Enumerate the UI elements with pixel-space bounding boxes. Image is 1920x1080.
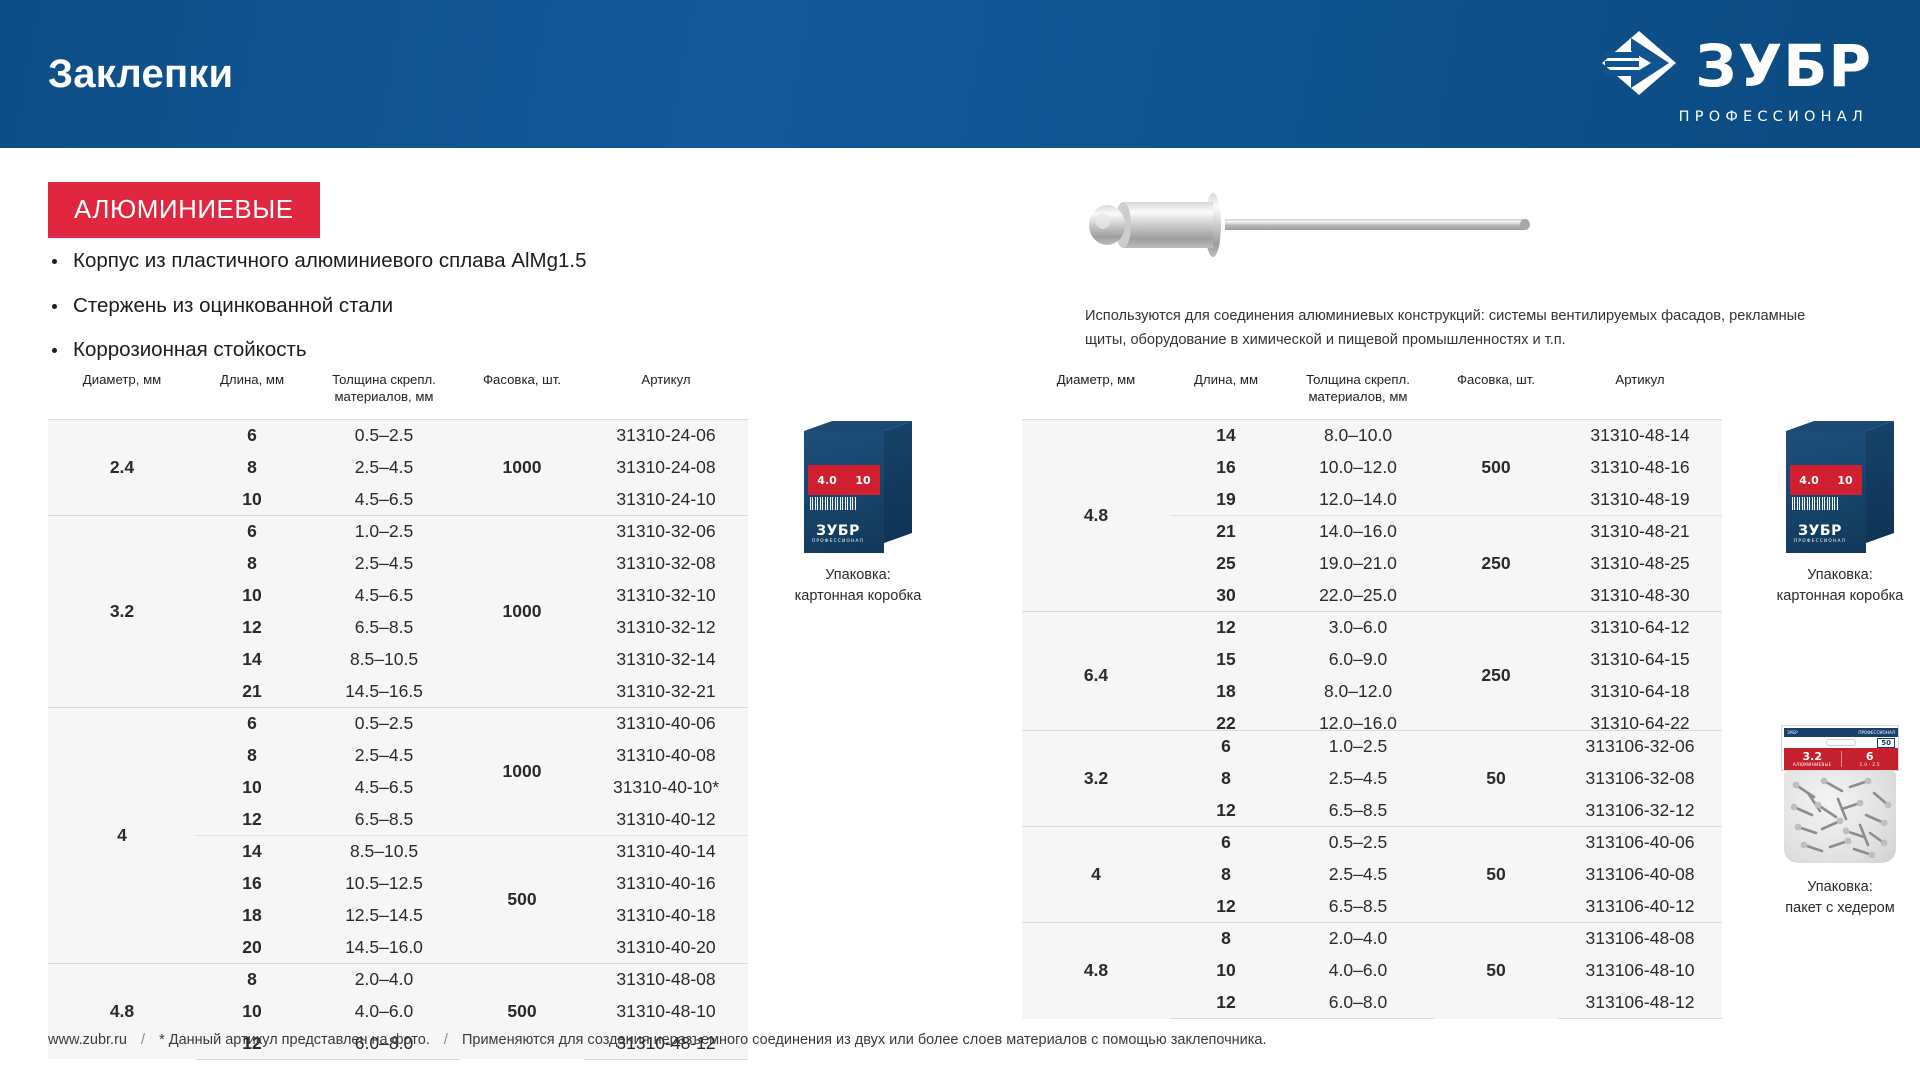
cell-length: 10 <box>196 579 308 611</box>
bag-label-diameter: 3.2 АЛЮМИНИЕВЫЕ <box>1784 751 1841 767</box>
cell-thickness: 6.0–9.0 <box>1282 643 1434 675</box>
cell-length: 10 <box>196 771 308 803</box>
cell-length: 8 <box>1170 923 1282 955</box>
box-label-length: 10 <box>1837 475 1852 486</box>
box-label-diameter: 4.0 <box>817 475 837 486</box>
table-body: 4.8 14 8.0–10.0 500 31310-48-14 16 10.0–… <box>1022 419 1722 739</box>
box-label-diameter: 4.0 <box>1799 475 1819 486</box>
cell-thickness: 10.5–12.5 <box>308 867 460 899</box>
cell-length: 20 <box>196 931 308 963</box>
cell-thickness: 12.0–14.0 <box>1282 483 1434 515</box>
brand-logo: ЗУБР ПРОФЕССИОНАЛ <box>1601 30 1872 125</box>
feature-text: Коррозионная стойкость <box>73 337 307 363</box>
package-illustration-bag: ЗУБР ПРОФЕССИОНАЛ 50 3.2 АЛЮМИНИЕВЫЕ 6 1… <box>1750 725 1920 919</box>
zubr-arrow-icon <box>1601 30 1677 101</box>
brand-tagline: ПРОФЕССИОНАЛ <box>1679 109 1868 125</box>
cell-packaging: 250 <box>1434 611 1558 739</box>
category-badge: АЛЮМИНИЕВЫЕ <box>48 182 320 238</box>
cell-packaging: 500 <box>1434 419 1558 515</box>
bag-header-card: ЗУБР ПРОФЕССИОНАЛ 50 3.2 АЛЮМИНИЕВЫЕ 6 1… <box>1781 725 1899 771</box>
bag-contents <box>1784 771 1896 863</box>
cardboard-box-icon: 4.0 10 ЗУБР ПРОФЕССИОНАЛ <box>804 415 912 553</box>
cell-thickness: 12.5–14.5 <box>308 899 460 931</box>
cell-thickness: 8.0–12.0 <box>1282 675 1434 707</box>
box-brand: ЗУБР ПРОФЕССИОНАЛ <box>812 523 864 544</box>
cell-article: 31310-48-25 <box>1558 547 1722 579</box>
cell-article: 31310-40-10* <box>584 771 748 803</box>
cell-thickness: 4.5–6.5 <box>308 483 460 515</box>
box-brand: ЗУБР ПРОФЕССИОНАЛ <box>1794 523 1846 544</box>
cell-thickness: 10.0–12.0 <box>1282 451 1434 483</box>
cell-article: 31310-40-08 <box>584 739 748 771</box>
cell-length: 8 <box>196 451 308 483</box>
cell-diameter: 2.4 <box>48 419 196 515</box>
package-illustration-box-right: 4.0 10 ЗУБР ПРОФЕССИОНАЛ Упаковка: карто… <box>1750 415 1920 607</box>
cell-article: 31310-48-08 <box>584 963 748 995</box>
cell-thickness: 14.0–16.0 <box>1282 515 1434 547</box>
cell-thickness: 6.5–8.5 <box>308 803 460 835</box>
cell-article: 31310-48-14 <box>1558 419 1722 451</box>
cell-thickness: 1.0–2.5 <box>308 515 460 547</box>
table-row: 4.8 8 2.0–4.0 500 31310-48-08 <box>48 963 748 995</box>
feature-item: Корпус из пластичного алюминиевого сплав… <box>52 248 672 274</box>
cell-article: 31310-40-16 <box>584 867 748 899</box>
cell-length: 18 <box>1170 675 1282 707</box>
cell-length: 6 <box>196 515 308 547</box>
cell-length: 12 <box>1170 611 1282 643</box>
cell-length: 21 <box>196 675 308 707</box>
cell-length: 15 <box>1170 643 1282 675</box>
col-header-packaging: Фасовка, шт. <box>1434 372 1558 419</box>
cell-thickness: 2.5–4.5 <box>308 451 460 483</box>
cell-article: 31310-24-06 <box>584 419 748 451</box>
cell-article: 313106-32-06 <box>1558 731 1722 763</box>
col-header-length: Длина, мм <box>196 372 308 419</box>
cell-thickness: 4.5–6.5 <box>308 771 460 803</box>
package-caption: Упаковка: картонная коробка <box>1750 565 1920 607</box>
feature-text: Корпус из пластичного алюминиевого сплав… <box>73 248 587 274</box>
cell-length: 12 <box>1170 795 1282 827</box>
cell-article: 313106-48-12 <box>1558 987 1722 1019</box>
footer-website[interactable]: www.zubr.ru <box>48 1032 127 1048</box>
box-label: 4.0 10 <box>1790 465 1862 495</box>
cell-thickness: 4.5–6.5 <box>308 579 460 611</box>
cell-diameter: 4 <box>1022 827 1170 923</box>
col-header-length: Длина, мм <box>1170 372 1282 419</box>
footer-separator: / <box>434 1032 458 1048</box>
cell-length: 6 <box>1170 827 1282 859</box>
cell-thickness: 2.5–4.5 <box>308 547 460 579</box>
cell-length: 8 <box>1170 763 1282 795</box>
cell-article: 31310-40-18 <box>584 899 748 931</box>
cell-article: 31310-48-21 <box>1558 515 1722 547</box>
page-header: Заклепки ЗУБР ПРОФЕССИОНАЛ <box>0 0 1920 148</box>
cell-article: 313106-48-08 <box>1558 923 1722 955</box>
bag-quantity-badge: 50 <box>1877 738 1895 748</box>
cell-thickness: 2.0–4.0 <box>1282 923 1434 955</box>
bag-brand-strip: ЗУБР ПРОФЕССИОНАЛ <box>1784 728 1898 737</box>
feature-item: Коррозионная стойкость <box>52 337 672 363</box>
footer-note-usage: Применяются для создания неразъемного со… <box>462 1032 1267 1048</box>
product-datasheet-page: Заклепки ЗУБР ПРОФЕССИОНАЛ АЛЮМИНИЕВЫЕ <box>0 0 1920 1080</box>
cell-thickness: 8.5–10.5 <box>308 643 460 675</box>
box-label: 4.0 10 <box>808 465 880 495</box>
cell-length: 25 <box>1170 547 1282 579</box>
cell-thickness: 8.5–10.5 <box>308 835 460 867</box>
bullet-dot-icon <box>52 304 57 309</box>
cell-length: 14 <box>196 835 308 867</box>
cell-thickness: 2.5–4.5 <box>308 739 460 771</box>
cell-article: 31310-48-16 <box>1558 451 1722 483</box>
table-body: 3.2 6 1.0–2.5 50 313106-32-06 8 2.5–4.5 … <box>1022 731 1722 1019</box>
cell-length: 12 <box>196 611 308 643</box>
cell-thickness: 22.0–25.0 <box>1282 579 1434 611</box>
usage-description: Используются для соединения алюминиевых … <box>1085 305 1830 352</box>
cell-length: 10 <box>196 483 308 515</box>
cell-packaging: 1000 <box>460 515 584 707</box>
cell-length: 12 <box>1170 987 1282 1019</box>
cell-thickness: 2.5–4.5 <box>1282 859 1434 891</box>
cell-thickness: 6.0–8.0 <box>1282 987 1434 1019</box>
cell-thickness: 3.0–6.0 <box>1282 611 1434 643</box>
cell-length: 8 <box>196 739 308 771</box>
box-label-length: 10 <box>855 475 870 486</box>
package-caption: Упаковка: картонная коробка <box>768 565 948 607</box>
cell-article: 31310-32-14 <box>584 643 748 675</box>
cell-thickness: 14.5–16.0 <box>308 931 460 963</box>
cell-thickness: 14.5–16.5 <box>308 675 460 707</box>
specs-table-right-upper: Диаметр, мм Длина, мм Толщина скрепл.мат… <box>1022 372 1722 740</box>
cell-length: 12 <box>1170 891 1282 923</box>
cell-thickness: 0.5–2.5 <box>308 419 460 451</box>
cell-thickness: 4.0–6.0 <box>308 995 460 1027</box>
cell-length: 8 <box>196 963 308 995</box>
specs-table-left: Диаметр, мм Длина, мм Толщина скрепл.мат… <box>48 372 748 1060</box>
cell-thickness: 6.5–8.5 <box>308 611 460 643</box>
bag-label: 3.2 АЛЮМИНИЕВЫЕ 6 1.0 - 2.5 <box>1784 748 1898 770</box>
col-header-packaging: Фасовка, шт. <box>460 372 584 419</box>
col-header-diameter: Диаметр, мм <box>1022 372 1170 419</box>
cell-article: 31310-24-08 <box>584 451 748 483</box>
feature-list: Корпус из пластичного алюминиевого сплав… <box>52 248 672 382</box>
cell-packaging: 1000 <box>460 707 584 835</box>
bullet-dot-icon <box>52 259 57 264</box>
barcode-icon <box>810 497 856 510</box>
cell-thickness: 2.0–4.0 <box>308 963 460 995</box>
cell-packaging: 1000 <box>460 419 584 515</box>
cell-thickness: 2.5–4.5 <box>1282 763 1434 795</box>
cell-length: 6 <box>196 419 308 451</box>
table-row: 4 6 0.5–2.5 1000 31310-40-06 <box>48 707 748 739</box>
cell-diameter: 4.8 <box>1022 923 1170 1019</box>
cell-diameter: 3.2 <box>1022 731 1170 827</box>
package-caption: Упаковка: пакет с хедером <box>1750 877 1920 919</box>
cell-thickness: 0.5–2.5 <box>308 707 460 739</box>
cell-article: 313106-48-10 <box>1558 955 1722 987</box>
cell-length: 14 <box>1170 419 1282 451</box>
cell-article: 31310-40-12 <box>584 803 748 835</box>
table-header-row: Диаметр, мм Длина, мм Толщина скрепл.мат… <box>1022 372 1722 419</box>
feature-item: Стержень из оцинкованной стали <box>52 293 672 319</box>
col-header-article: Артикул <box>584 372 748 419</box>
cell-article: 31310-32-06 <box>584 515 748 547</box>
euro-hole-icon <box>1826 739 1856 746</box>
col-header-thickness: Толщина скрепл.материалов, мм <box>1282 372 1434 419</box>
table-row: 3.2 6 1.0–2.5 50 313106-32-06 <box>1022 731 1722 763</box>
cell-article: 313106-40-12 <box>1558 891 1722 923</box>
bag-label-length: 6 1.0 - 2.5 <box>1842 751 1899 767</box>
col-header-thickness: Толщина скрепл.материалов, мм <box>308 372 460 419</box>
table-row: 4.8 14 8.0–10.0 500 31310-48-14 <box>1022 419 1722 451</box>
cell-length: 30 <box>1170 579 1282 611</box>
cell-article: 31310-32-12 <box>584 611 748 643</box>
cell-length: 6 <box>196 707 308 739</box>
cell-article: 31310-64-12 <box>1558 611 1722 643</box>
cell-length: 19 <box>1170 483 1282 515</box>
cell-length: 10 <box>196 995 308 1027</box>
cell-article: 31310-40-06 <box>584 707 748 739</box>
cell-length: 12 <box>196 803 308 835</box>
cell-thickness: 0.5–2.5 <box>1282 827 1434 859</box>
cell-length: 6 <box>1170 731 1282 763</box>
cell-packaging: 500 <box>460 835 584 963</box>
cell-length: 21 <box>1170 515 1282 547</box>
page-footer: www.zubr.ru / * Данный артикул представл… <box>48 1032 1267 1048</box>
cell-length: 16 <box>1170 451 1282 483</box>
col-header-article: Артикул <box>1558 372 1722 419</box>
table-row: 2.4 6 0.5–2.5 1000 31310-24-06 <box>48 419 748 451</box>
cell-article: 31310-32-10 <box>584 579 748 611</box>
barcode-icon <box>1792 497 1838 510</box>
cell-thickness: 4.0–6.0 <box>1282 955 1434 987</box>
table-row: 4 6 0.5–2.5 50 313106-40-06 <box>1022 827 1722 859</box>
specs-table-right-lower: 3.2 6 1.0–2.5 50 313106-32-06 8 2.5–4.5 … <box>1022 730 1722 1019</box>
cell-thickness: 8.0–10.0 <box>1282 419 1434 451</box>
table-body: 2.4 6 0.5–2.5 1000 31310-24-06 8 2.5–4.5… <box>48 419 748 1059</box>
cell-packaging: 50 <box>1434 827 1558 923</box>
page-title: Заклепки <box>48 52 233 97</box>
cell-length: 8 <box>1170 859 1282 891</box>
cell-packaging: 50 <box>1434 731 1558 827</box>
footer-separator: / <box>131 1032 155 1048</box>
cell-length: 16 <box>196 867 308 899</box>
cell-diameter: 3.2 <box>48 515 196 707</box>
cell-article: 313106-32-08 <box>1558 763 1722 795</box>
cell-thickness: 1.0–2.5 <box>1282 731 1434 763</box>
cell-length: 14 <box>196 643 308 675</box>
cell-length: 8 <box>196 547 308 579</box>
cell-article: 313106-40-08 <box>1558 859 1722 891</box>
cell-length: 10 <box>1170 955 1282 987</box>
rivet-product-image <box>1075 190 1595 265</box>
table-row: 3.2 6 1.0–2.5 1000 31310-32-06 <box>48 515 748 547</box>
cell-article: 31310-64-15 <box>1558 643 1722 675</box>
footer-note-photo: * Данный артикул представлен на фото. <box>159 1032 430 1048</box>
cell-packaging: 50 <box>1434 923 1558 1019</box>
cell-article: 31310-48-30 <box>1558 579 1722 611</box>
cell-article: 31310-40-20 <box>584 931 748 963</box>
cell-article: 313106-40-06 <box>1558 827 1722 859</box>
cell-diameter: 4 <box>48 707 196 963</box>
feature-text: Стержень из оцинкованной стали <box>73 293 393 319</box>
package-illustration-box-left: 4.0 10 ЗУБР ПРОФЕССИОНАЛ Упаковка: карто… <box>768 415 948 607</box>
cell-article: 31310-24-10 <box>584 483 748 515</box>
cell-article: 31310-64-18 <box>1558 675 1722 707</box>
cell-thickness: 19.0–21.0 <box>1282 547 1434 579</box>
table-row: 4.8 8 2.0–4.0 50 313106-48-08 <box>1022 923 1722 955</box>
header-bag-icon: ЗУБР ПРОФЕССИОНАЛ 50 3.2 АЛЮМИНИЕВЫЕ 6 1… <box>1781 725 1899 865</box>
cell-diameter: 4.8 <box>1022 419 1170 611</box>
cell-thickness: 6.5–8.5 <box>1282 795 1434 827</box>
bullet-dot-icon <box>52 348 57 353</box>
table-row: 6.4 12 3.0–6.0 250 31310-64-12 <box>1022 611 1722 643</box>
cell-article: 31310-48-10 <box>584 995 748 1027</box>
cell-article: 31310-48-19 <box>1558 483 1722 515</box>
cardboard-box-icon: 4.0 10 ЗУБР ПРОФЕССИОНАЛ <box>1786 415 1894 553</box>
cell-length: 18 <box>196 899 308 931</box>
cell-article: 31310-40-14 <box>584 835 748 867</box>
brand-wordmark: ЗУБР <box>1695 37 1872 95</box>
cell-packaging: 250 <box>1434 515 1558 611</box>
col-header-diameter: Диаметр, мм <box>48 372 196 419</box>
table-header-row: Диаметр, мм Длина, мм Толщина скрепл.мат… <box>48 372 748 419</box>
cell-article: 31310-32-21 <box>584 675 748 707</box>
cell-thickness: 6.5–8.5 <box>1282 891 1434 923</box>
cell-diameter: 6.4 <box>1022 611 1170 739</box>
cell-article: 31310-32-08 <box>584 547 748 579</box>
cell-article: 313106-32-12 <box>1558 795 1722 827</box>
